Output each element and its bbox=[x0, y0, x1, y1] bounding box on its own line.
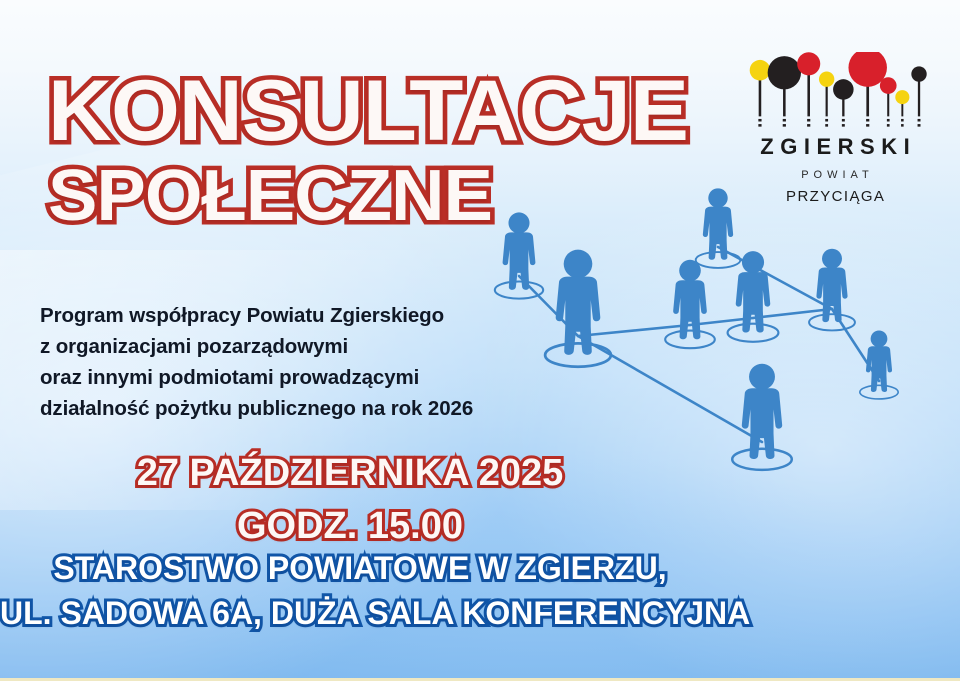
network-links bbox=[519, 247, 879, 442]
logo-subtitle-powiat: POWIAT bbox=[742, 169, 928, 181]
logo-name: ZGIERSKI bbox=[742, 134, 928, 160]
figure-p3 bbox=[665, 260, 715, 348]
headline-line-1: KONSULTACJE bbox=[48, 72, 769, 151]
description-line-3: oraz innymi podmiotami prowadzącymi bbox=[40, 362, 520, 393]
poster-headline: KONSULTACJE SPOŁECZNE bbox=[48, 72, 748, 229]
description-line-1: Program współpracy Powiatu Zgierskiego bbox=[40, 300, 520, 331]
headline-line-2: SPOŁECZNE bbox=[48, 163, 769, 229]
logo-pins-icon bbox=[742, 52, 928, 132]
poster-description: Program współpracy Powiatu Zgierskiego z… bbox=[40, 300, 520, 425]
event-venue: STAROSTWO POWIATOWE W ZGIERZU, UL. SADOW… bbox=[0, 550, 720, 632]
event-time: GODZ. 15.00 bbox=[0, 505, 700, 548]
figure-p6 bbox=[809, 249, 855, 331]
venue-line-2: UL. SADOWA 6A, DUŻA SALA KONFERENCYJNA bbox=[0, 595, 720, 632]
figure-p2 bbox=[545, 250, 611, 367]
venue-line-1: STAROSTWO POWIATOWE W ZGIERZU, bbox=[0, 550, 720, 587]
network-figures bbox=[495, 188, 898, 470]
logo-subtitle-przyciaga: PRZYCIĄGA bbox=[742, 188, 928, 205]
figure-p7 bbox=[860, 330, 898, 399]
event-datetime: 27 PAŹDZIERNIKA 2025 GODZ. 15.00 bbox=[0, 452, 700, 548]
description-line-4: działalność pożytku publicznego na rok 2… bbox=[40, 393, 520, 424]
figure-p5 bbox=[728, 251, 779, 342]
figure-p8 bbox=[732, 364, 792, 470]
event-date: 27 PAŹDZIERNIKA 2025 bbox=[0, 452, 700, 495]
zgierski-powiat-logo: ZGIERSKI POWIAT PRZYCIĄGA bbox=[742, 52, 928, 205]
description-line-2: z organizacjami pozarządowymi bbox=[40, 331, 520, 362]
poster-canvas: ZGIERSKI POWIAT PRZYCIĄGA KONSULTACJE SP… bbox=[0, 0, 960, 681]
